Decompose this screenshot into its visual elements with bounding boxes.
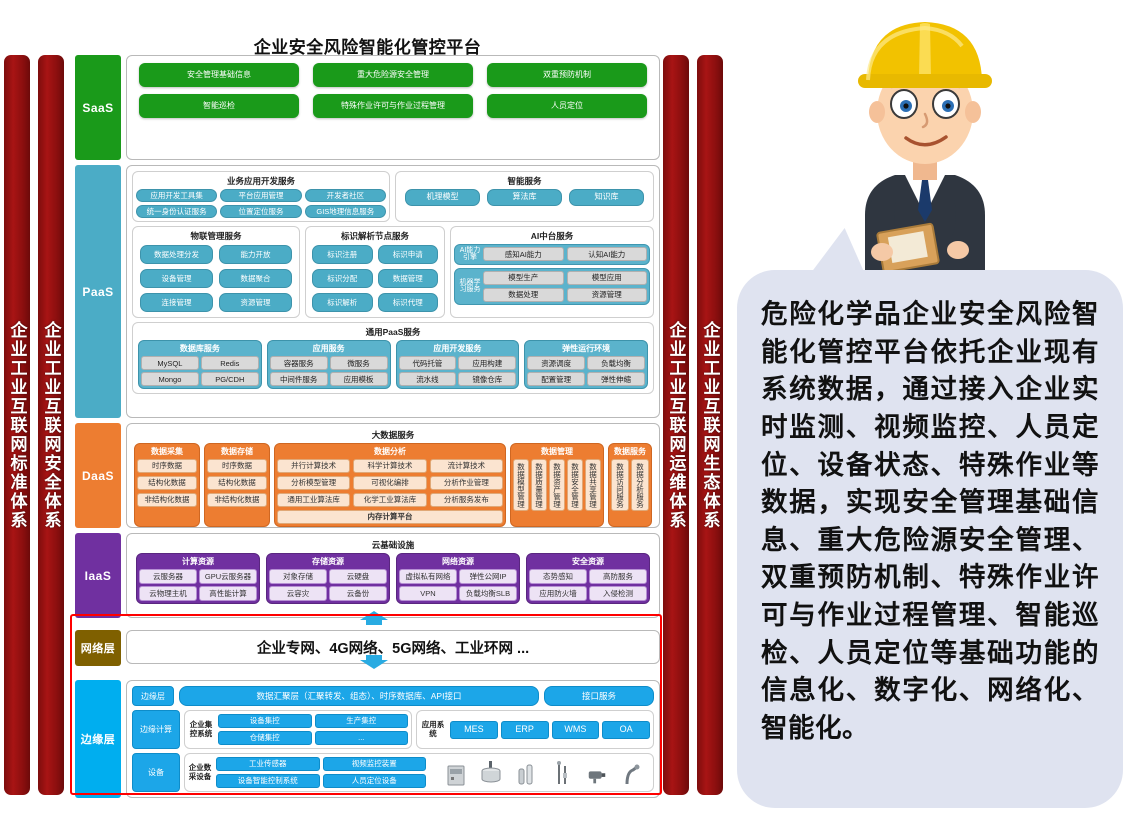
common-paas-item[interactable]: PG/CDH	[201, 372, 259, 386]
saas-grid: 安全管理基础信息 重大危险源安全管理 双重预防机制 智能巡检 特殊作业许可与作业…	[139, 63, 647, 118]
id-node-item[interactable]: 数据管理	[378, 269, 439, 288]
layer-body-saas: 安全管理基础信息 重大危险源安全管理 双重预防机制 智能巡检 特殊作业许可与作业…	[126, 55, 660, 160]
edge-compute-item[interactable]: 生产集控	[315, 714, 409, 728]
daas-item[interactable]: 数据共享管理	[585, 459, 601, 511]
tank-icon	[480, 760, 502, 786]
edge-compute-item[interactable]: ...	[315, 731, 409, 745]
common-paas-group: 应用服务 容器服务 微服务 中间件服务 应用模板	[267, 340, 391, 389]
daas-item[interactable]: 分析模型管理	[277, 476, 350, 490]
pillar-ops-label: 企业工业互联网运维体系	[664, 321, 689, 530]
id-node-item[interactable]: 标识代理	[378, 293, 439, 312]
daas-analysis: 数据分析 并行计算技术 科学计算技术 流计算技术 分析模型管理 可视化编排 分析…	[274, 443, 506, 527]
common-paas-item[interactable]: 负载均衡	[587, 356, 645, 370]
group-title: 企业数采设备	[188, 764, 212, 781]
ai-capability-item[interactable]: 感知AI能力	[483, 247, 564, 261]
daas-item[interactable]: 结构化数据	[137, 476, 197, 490]
saas-item[interactable]: 重大危险源安全管理	[313, 63, 473, 87]
layer-body-daas: 大数据服务 数据采集 时序数据 结构化数据 非结构化数据 数据存储 时序数据	[126, 423, 660, 528]
iaas-item[interactable]: 高性能计算	[199, 586, 257, 601]
application-system: 应用系统 MES ERP WMS OA	[416, 710, 654, 749]
id-node-item[interactable]: 标识申请	[378, 245, 439, 264]
group-title: 弹性运行环境	[527, 343, 645, 354]
common-paas-group: 数据库服务 MySQL Redis Mongo PG/CDH	[138, 340, 262, 389]
common-paas-item[interactable]: 配置管理	[527, 372, 585, 386]
layer-tag-network: 网络层	[75, 630, 121, 666]
iaas-item[interactable]: 入侵检测	[589, 586, 647, 601]
arrow-down-icon	[360, 655, 388, 669]
group-title: 云基础设施	[132, 539, 654, 551]
biz-dev-item[interactable]: GIS地理信息服务	[305, 205, 386, 218]
daas-item[interactable]: 数据模型管理	[513, 459, 529, 511]
ml-item[interactable]: 模型应用	[567, 271, 648, 285]
iaas-item[interactable]: VPN	[399, 586, 457, 601]
group-title: 数据采集	[137, 446, 197, 457]
daas-item[interactable]: 化学工业算法库	[353, 493, 426, 507]
sensor-icon	[515, 760, 537, 786]
daas-storage: 数据存储 时序数据 结构化数据 非结构化数据	[204, 443, 270, 527]
arrow-up-icon	[360, 611, 388, 625]
group-title: 数据库服务	[141, 343, 259, 354]
layer-body-paas: 业务应用开发服务 应用开发工具集 平台应用管理 开发者社区 统一身份认证服务 位…	[126, 165, 660, 418]
daas-item[interactable]: 结构化数据	[207, 476, 267, 490]
app-system-item[interactable]: OA	[602, 721, 650, 739]
common-paas-item[interactable]: 流水线	[399, 372, 457, 386]
iaas-item[interactable]: 弹性公网IP	[459, 569, 517, 584]
pillar-security-label: 企业工业互联网安全体系	[39, 321, 64, 530]
daas-item[interactable]: 数据分析服务	[631, 459, 649, 511]
edge-interface-service[interactable]: 接口服务	[544, 686, 654, 706]
app-system-item[interactable]: MES	[450, 721, 498, 739]
pillar-ecology-system: 企业工业互联网生态体系	[697, 55, 723, 795]
layer-body-network: 企业专网、4G网络、5G网络、工业环网 ...	[126, 630, 660, 664]
group-title: 存储资源	[269, 556, 387, 567]
ai-capability-item[interactable]: 认知AI能力	[567, 247, 648, 261]
platform-architecture: SaaS 安全管理基础信息 重大危险源安全管理 双重预防机制 智能巡检 特殊作业…	[75, 55, 660, 795]
daas-item[interactable]: 数据访问服务	[611, 459, 629, 511]
pillar-standard-label: 企业工业互联网标准体系	[5, 321, 30, 530]
daas-item[interactable]: 数据质量管理	[531, 459, 547, 511]
group-ai-middle-platform: AI中台服务 AI能力引擎 感知AI能力 认知AI能力 机器学习服务 模型生产 …	[450, 226, 654, 318]
group-title: 计算资源	[139, 556, 257, 567]
iaas-item[interactable]: 态势感知	[529, 569, 587, 584]
group-title: 业务应用开发服务	[136, 175, 386, 187]
probe-icon	[551, 760, 573, 786]
common-paas-item[interactable]: 容器服务	[270, 356, 328, 370]
group-iot-management: 物联管理服务 数据处理分发 能力开放 设备管理 数据聚合 连接管理 资源管理	[132, 226, 300, 318]
smart-service-item[interactable]: 知识库	[569, 189, 644, 206]
layer-tag-iaas: IaaS	[75, 533, 121, 618]
iaas-item[interactable]: 云物理主机	[139, 586, 197, 601]
iaas-item[interactable]: 云服务器	[139, 569, 197, 584]
daas-item[interactable]: 并行计算技术	[277, 459, 350, 473]
layer-tag-edge: 边缘层	[75, 680, 121, 798]
iaas-item[interactable]: 应用防火墙	[529, 586, 587, 601]
layer-body-edge: 边缘层 数据汇聚层（汇聚转发、组态）、时序数据库、API接口 接口服务 边缘计算…	[126, 680, 660, 798]
ai-engine-block: AI能力引擎 感知AI能力 认知AI能力	[454, 244, 650, 265]
group-title: 应用系统	[420, 721, 446, 738]
iot-item[interactable]: 数据聚合	[219, 269, 292, 288]
edge-compute-item[interactable]: 仓储集控	[218, 731, 312, 745]
layer-tag-daas: DaaS	[75, 423, 121, 528]
iaas-item[interactable]: 云容灾	[269, 586, 327, 601]
device-item[interactable]: 视频监控装置	[323, 757, 427, 771]
group-business-dev: 业务应用开发服务 应用开发工具集 平台应用管理 开发者社区 统一身份认证服务 位…	[132, 171, 390, 222]
common-paas-item[interactable]: 微服务	[330, 356, 388, 370]
common-paas-item[interactable]: 中间件服务	[270, 372, 328, 386]
group-title: 企业集控系统	[188, 721, 214, 738]
layer-paas: PaaS 业务应用开发服务 应用开发工具集 平台应用管理 开发者社区 统一身份认…	[75, 165, 660, 418]
iot-item[interactable]: 资源管理	[219, 293, 292, 312]
common-paas-item[interactable]: 应用构建	[458, 356, 516, 370]
edge-sublabel: 边缘层	[132, 686, 174, 706]
iaas-group: 安全资源 态势感知 高防服务 应用防火墙 入侵检测	[526, 553, 650, 604]
ai-block-label: 机器学习服务	[457, 271, 483, 302]
group-title: 数据管理	[513, 446, 601, 457]
edge-compute-item[interactable]: 设备集控	[218, 714, 312, 728]
valve-icon	[621, 760, 643, 786]
device-item[interactable]: 人员定位设备	[323, 774, 427, 788]
group-title: 安全资源	[529, 556, 647, 567]
common-paas-group: 弹性运行环境 资源调度 负载均衡 配置管理 弹性伸缩	[524, 340, 648, 389]
daas-item[interactable]: 可视化编排	[353, 476, 426, 490]
daas-analysis-footer[interactable]: 内存计算平台	[277, 510, 503, 524]
common-paas-group: 应用开发服务 代码托管 应用构建 流水线 镜像仓库	[396, 340, 520, 389]
daas-item[interactable]: 非结构化数据	[207, 493, 267, 507]
common-paas-item[interactable]: Redis	[201, 356, 259, 370]
daas-item[interactable]: 科学计算技术	[353, 459, 426, 473]
ml-item[interactable]: 数据处理	[483, 288, 564, 302]
callout-text: 危险化学品企业安全风险智能化管控平台依托企业现有系统数据，通过接入企业实时监测、…	[737, 270, 1123, 774]
biz-dev-item[interactable]: 位置定位服务	[220, 205, 301, 218]
enterprise-data-devices: 企业数采设备 工业传感器 视频监控装置 设备智能控制系统 人员定位设备	[184, 753, 654, 792]
iot-item[interactable]: 连接管理	[140, 293, 213, 312]
id-node-item[interactable]: 标识注册	[312, 245, 373, 264]
group-title: 网络资源	[399, 556, 517, 567]
biz-dev-item[interactable]: 平台应用管理	[220, 189, 301, 202]
layer-tag-paas: PaaS	[75, 165, 121, 418]
daas-item[interactable]: 流计算技术	[430, 459, 503, 473]
app-system-item[interactable]: ERP	[501, 721, 549, 739]
edge-aggregation[interactable]: 数据汇聚层（汇聚转发、组态）、时序数据库、API接口	[179, 686, 539, 706]
group-title: 应用开发服务	[399, 343, 517, 354]
network-text: 企业专网、4G网络、5G网络、工业环网 ...	[257, 637, 529, 658]
cabinet-icon	[445, 760, 467, 786]
common-paas-item[interactable]: 镜像仓库	[458, 372, 516, 386]
smart-service-item[interactable]: 算法库	[487, 189, 562, 206]
iaas-item[interactable]: 虚拟私有网络	[399, 569, 457, 584]
common-paas-item[interactable]: MySQL	[141, 356, 199, 370]
group-title: 通用PaaS服务	[136, 326, 650, 338]
device-label: 设备	[132, 753, 180, 792]
iaas-group: 计算资源 云服务器 GPU云服务器 云物理主机 高性能计算	[136, 553, 260, 604]
common-paas-item[interactable]: 应用模板	[330, 372, 388, 386]
common-paas-item[interactable]: 弹性伸缩	[587, 372, 645, 386]
iaas-item[interactable]: GPU云服务器	[199, 569, 257, 584]
biz-dev-item[interactable]: 统一身份认证服务	[136, 205, 217, 218]
daas-item[interactable]: 时序数据	[207, 459, 267, 473]
edge-compute-label: 边缘计算	[132, 710, 180, 749]
common-paas-item[interactable]: Mongo	[141, 372, 199, 386]
group-title: 数据分析	[277, 446, 503, 457]
iot-item[interactable]: 能力开放	[219, 245, 292, 264]
group-title: 数据存储	[207, 446, 267, 457]
app-system-item[interactable]: WMS	[552, 721, 600, 739]
iaas-item[interactable]: 高防服务	[589, 569, 647, 584]
daas-item[interactable]: 通用工业算法库	[277, 493, 350, 507]
group-smart-service: 智能服务 机理模型 算法库 知识库	[395, 171, 654, 222]
common-paas-item[interactable]: 资源调度	[527, 356, 585, 370]
daas-management: 数据管理 数据模型管理 数据质量管理 数据资产管理 数据安全管理 数据共享管理	[510, 443, 604, 527]
iot-item[interactable]: 数据处理分发	[140, 245, 213, 264]
pillar-ops-system: 企业工业互联网运维体系	[663, 55, 689, 795]
smart-service-item[interactable]: 机理模型	[405, 189, 480, 206]
daas-collect: 数据采集 时序数据 结构化数据 非结构化数据	[134, 443, 200, 527]
daas-item[interactable]: 分析服务发布	[430, 493, 503, 507]
group-identifier-node: 标识解析节点服务 标识注册 标识申请 标识分配 数据管理 标识解析 标识代理	[305, 226, 445, 318]
group-title: 数据服务	[611, 446, 649, 457]
daas-item[interactable]: 数据安全管理	[567, 459, 583, 511]
pillar-security-system: 企业工业互联网安全体系	[38, 55, 64, 795]
daas-item[interactable]: 非结构化数据	[137, 493, 197, 507]
iaas-item[interactable]: 云硬盘	[329, 569, 387, 584]
common-paas-item[interactable]: 代码托管	[399, 356, 457, 370]
device-item[interactable]: 工业传感器	[216, 757, 320, 771]
saas-item[interactable]: 安全管理基础信息	[139, 63, 299, 87]
layer-iaas: IaaS 云基础设施 计算资源 云服务器 GPU云服务器 云物理主机 高性能计算…	[75, 533, 660, 618]
group-common-paas: 通用PaaS服务 数据库服务 MySQL Redis Mongo PG/CDH …	[132, 322, 654, 394]
camera-icon	[586, 760, 608, 786]
biz-dev-item[interactable]: 应用开发工具集	[136, 189, 217, 202]
group-title: 大数据服务	[132, 429, 654, 441]
callout-bubble: 危险化学品企业安全风险智能化管控平台依托企业现有系统数据，通过接入企业实时监测、…	[737, 270, 1123, 808]
daas-service: 数据服务 数据访问服务 数据分析服务	[608, 443, 652, 527]
saas-item[interactable]: 特殊作业许可与作业过程管理	[313, 94, 473, 118]
saas-item[interactable]: 人员定位	[487, 94, 647, 118]
iot-item[interactable]: 设备管理	[140, 269, 213, 288]
group-title: 标识解析节点服务	[309, 230, 441, 242]
ml-item[interactable]: 模型生产	[483, 271, 564, 285]
group-title: 智能服务	[399, 175, 650, 187]
daas-item[interactable]: 数据资产管理	[549, 459, 565, 511]
pillar-ecology-label: 企业工业互联网生态体系	[698, 321, 723, 530]
layer-tag-saas: SaaS	[75, 55, 121, 160]
group-title: AI中台服务	[454, 230, 650, 242]
device-item[interactable]: 设备智能控制系统	[216, 774, 320, 788]
iaas-item[interactable]: 云备份	[329, 586, 387, 601]
ml-service-block: 机器学习服务 模型生产 模型应用 数据处理 资源管理	[454, 268, 650, 305]
enterprise-control-system: 企业集控系统 设备集控 生产集控 仓储集控 ...	[184, 710, 412, 749]
iaas-item[interactable]: 对象存储	[269, 569, 327, 584]
layer-body-iaas: 云基础设施 计算资源 云服务器 GPU云服务器 云物理主机 高性能计算 存储资源…	[126, 533, 660, 618]
pillar-standard-system: 企业工业互联网标准体系	[4, 55, 30, 795]
biz-dev-item[interactable]: 开发者社区	[305, 189, 386, 202]
iaas-group: 网络资源 虚拟私有网络 弹性公网IP VPN 负载均衡SLB	[396, 553, 520, 604]
saas-item[interactable]: 双重预防机制	[487, 63, 647, 87]
id-node-item[interactable]: 标识分配	[312, 269, 373, 288]
layer-saas: SaaS 安全管理基础信息 重大危险源安全管理 双重预防机制 智能巡检 特殊作业…	[75, 55, 660, 160]
saas-item[interactable]: 智能巡检	[139, 94, 299, 118]
group-title: 物联管理服务	[136, 230, 296, 242]
ai-block-label: AI能力引擎	[457, 247, 483, 262]
id-node-item[interactable]: 标识解析	[312, 293, 373, 312]
layer-edge: 边缘层 边缘层 数据汇聚层（汇聚转发、组态）、时序数据库、API接口 接口服务 …	[75, 680, 660, 798]
iaas-group: 存储资源 对象存储 云硬盘 云容灾 云备份	[266, 553, 390, 604]
daas-item[interactable]: 分析作业管理	[430, 476, 503, 490]
daas-item[interactable]: 时序数据	[137, 459, 197, 473]
ml-item[interactable]: 资源管理	[567, 288, 648, 302]
group-title: 应用服务	[270, 343, 388, 354]
iaas-item[interactable]: 负载均衡SLB	[459, 586, 517, 601]
layer-daas: DaaS 大数据服务 数据采集 时序数据 结构化数据 非结构化数据 数据存储	[75, 423, 660, 528]
